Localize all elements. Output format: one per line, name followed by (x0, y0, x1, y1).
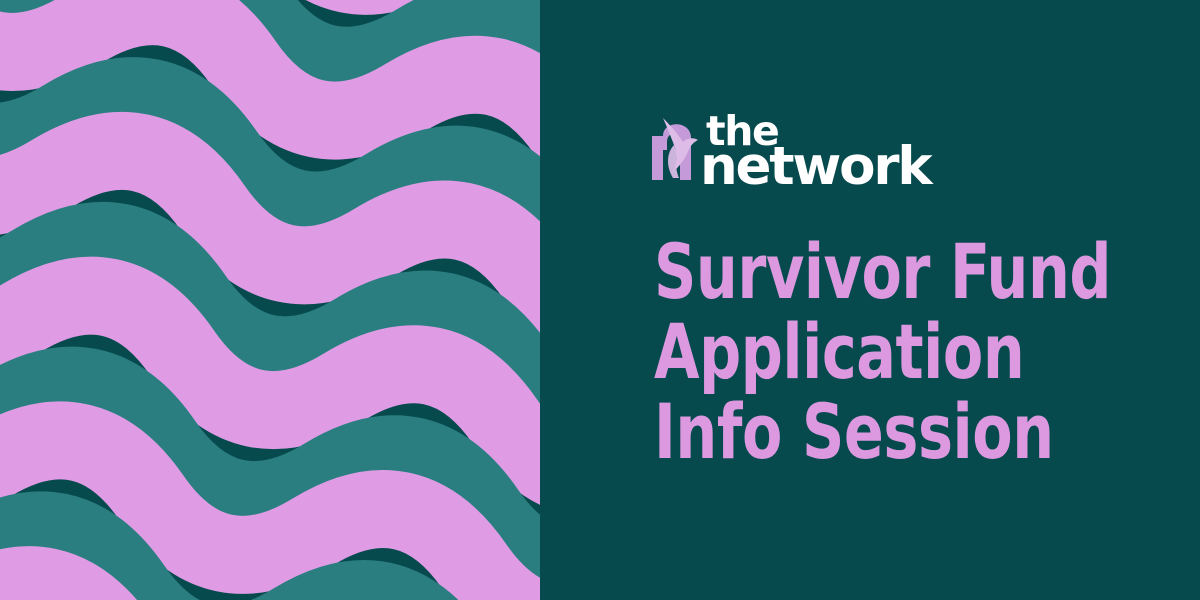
wordmark-network: network (700, 140, 930, 193)
headline-line-3: Info Session (654, 392, 1118, 472)
wordmark: the network (700, 114, 905, 192)
poster-canvas: the network Survivor Fund Application In… (0, 0, 1200, 600)
headline-line-1: Survivor Fund (654, 232, 1118, 312)
bird-over-n-logo-icon (652, 116, 702, 180)
headline-line-2: Application (654, 312, 1118, 392)
content-column: the network Survivor Fund Application In… (652, 0, 1200, 600)
logo-lockup: the network (652, 114, 902, 192)
wave-pattern-svg (0, 0, 540, 600)
page-title: Survivor Fund Application Info Session (654, 232, 1194, 472)
bird-over-n-logo-svg (652, 116, 702, 180)
wave-pattern-decoration (0, 0, 540, 600)
